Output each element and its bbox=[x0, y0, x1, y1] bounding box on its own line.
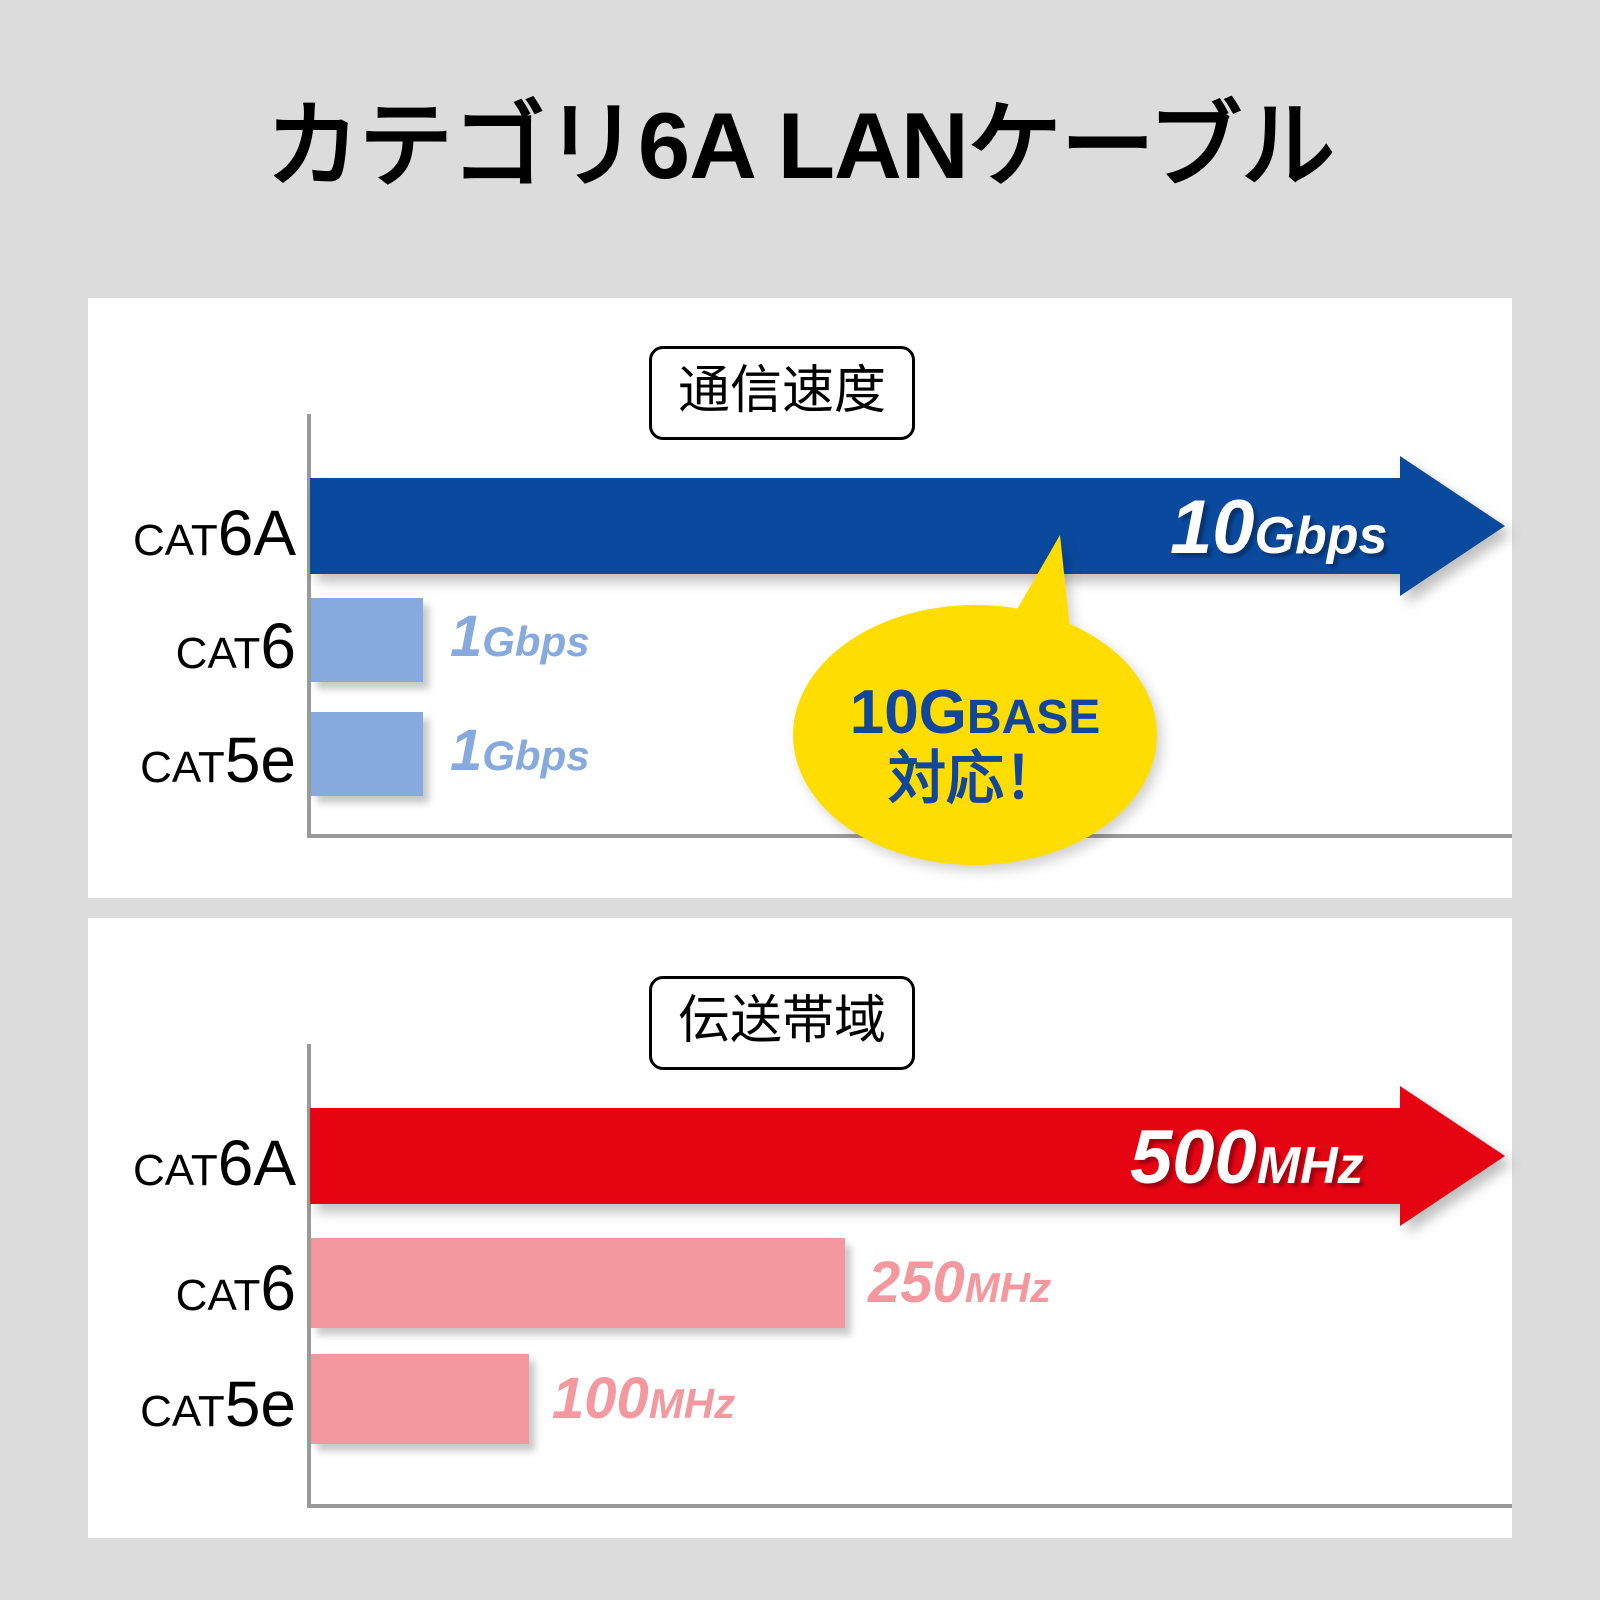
bandwidth-value-cat6: 250MHz bbox=[868, 1254, 1051, 1312]
speed-value-cat6a: 10Gbps bbox=[1170, 490, 1387, 566]
page-title: カテゴリ6A LANケーブル bbox=[0, 94, 1600, 197]
bandwidth-value-cat6a: 500MHz bbox=[1130, 1120, 1364, 1196]
bandwidth-x-axis bbox=[307, 1504, 1512, 1508]
section-heading-bandwidth: 伝送帯域 bbox=[649, 976, 915, 1070]
speed-value-cat5e: 1Gbps bbox=[450, 722, 590, 780]
bandwidth-value-cat5e: 100MHz bbox=[552, 1370, 735, 1428]
bandwidth-bar-cat5e bbox=[311, 1354, 529, 1444]
callout-bubble: 10GBASE 対応！ bbox=[790, 530, 1160, 870]
bandwidth-category-label-cat5e: CAT5e bbox=[88, 1372, 296, 1436]
callout-text: 10GBASE 対応！ bbox=[790, 680, 1160, 810]
speed-category-label-cat5e: CAT5e bbox=[88, 728, 296, 792]
speed-bar-cat5e bbox=[311, 712, 423, 796]
bandwidth-category-label-cat6a: CAT6A bbox=[88, 1131, 296, 1195]
bandwidth-category-label-cat6: CAT6 bbox=[88, 1256, 296, 1320]
speed-value-cat6: 1Gbps bbox=[450, 608, 590, 666]
bandwidth-chart-card: 伝送帯域 500MHz 250MHz 100MHz CAT6A CAT6 CAT… bbox=[88, 918, 1512, 1538]
speed-category-label-cat6a: CAT6A bbox=[88, 501, 296, 565]
section-heading-speed: 通信速度 bbox=[649, 346, 915, 440]
speed-bar-cat6 bbox=[311, 598, 423, 682]
bandwidth-bar-cat6 bbox=[311, 1238, 845, 1328]
speed-category-label-cat6: CAT6 bbox=[88, 614, 296, 678]
